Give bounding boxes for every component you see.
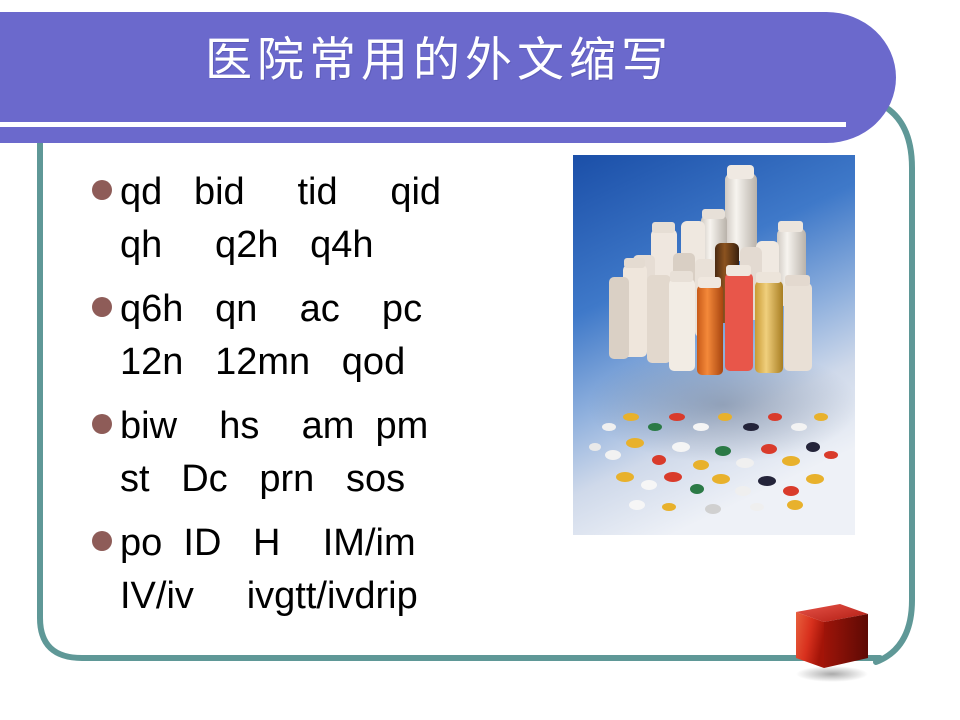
list-item: po ID H IM/im IV/iv ivgtt/ivdrip bbox=[82, 517, 552, 623]
bullet-list: qd bid tid qid qh q2h q4h q6h qn ac pc 1… bbox=[82, 166, 552, 634]
bullet-dot-icon bbox=[92, 531, 112, 551]
bullet-line-secondary: qh q2h q4h bbox=[120, 219, 552, 272]
bullet-dot-icon bbox=[92, 297, 112, 317]
bullet-line-secondary: IV/iv ivgtt/ivdrip bbox=[120, 570, 552, 623]
list-item: qd bid tid qid qh q2h q4h bbox=[82, 166, 552, 272]
list-item: q6h qn ac pc 12n 12mn qod bbox=[82, 283, 552, 389]
bullet-line-primary: biw hs am pm bbox=[120, 400, 552, 453]
red-cube-icon bbox=[778, 588, 890, 686]
list-item: biw hs am pm st Dc prn sos bbox=[82, 400, 552, 506]
bullet-line-secondary: st Dc prn sos bbox=[120, 453, 552, 506]
bullet-line-secondary: 12n 12mn qod bbox=[120, 336, 552, 389]
page-title: 医院常用的外文缩写 bbox=[0, 33, 878, 89]
bullet-dot-icon bbox=[92, 180, 112, 200]
bullet-dot-icon bbox=[92, 414, 112, 434]
slide-canvas: 医院常用的外文缩写 qd bid tid qid qh q2h q4h q6h … bbox=[0, 0, 960, 720]
title-underline-rule bbox=[0, 122, 846, 127]
medicine-bottles-photo bbox=[573, 155, 855, 535]
bullet-line-primary: qd bid tid qid bbox=[120, 166, 552, 219]
bullet-line-primary: po ID H IM/im bbox=[120, 517, 552, 570]
bullet-line-primary: q6h qn ac pc bbox=[120, 283, 552, 336]
